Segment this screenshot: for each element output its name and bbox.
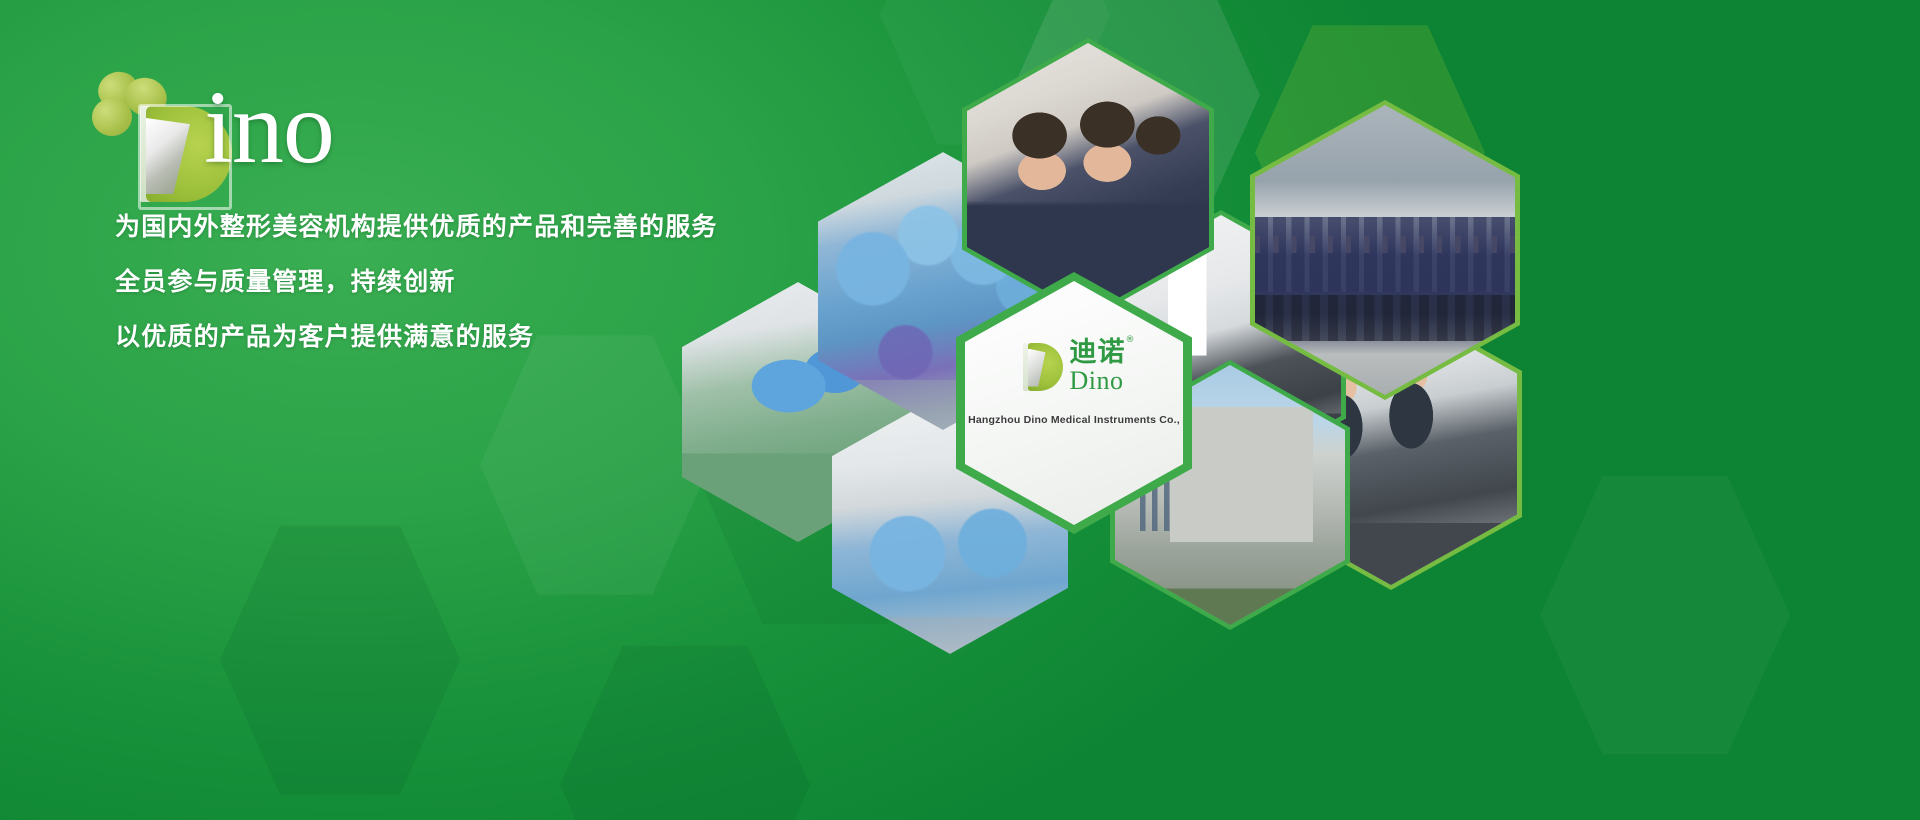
brand-wordmark: ino — [204, 76, 334, 180]
slogan-line-3: 以优质的产品为客户提供满意的服务 — [115, 322, 718, 352]
background-hexagon — [560, 640, 810, 820]
photo-hexagon-mosaic: 迪诺 ® Dino Hangzhou Dino Medical Instrume… — [660, 60, 1920, 620]
dino-leaf-mark-icon — [1023, 343, 1063, 391]
brand-name-cn-text: 迪诺 — [1070, 337, 1126, 368]
company-full-name: Hangzhou Dino Medical Instruments Co., — [968, 414, 1180, 426]
slogan-line-2: 全员参与质量管理，持续创新 — [115, 267, 718, 297]
registered-trademark-icon: ® — [1126, 336, 1136, 345]
brand-name-cn: 迪诺 ® — [1070, 339, 1126, 366]
center-logo-lockup: 迪诺 ® Dino — [1023, 339, 1126, 394]
slogan-line-1: 为国内外整形美容机构提供优质的产品和完善的服务 — [115, 212, 718, 242]
background-hexagon — [220, 520, 460, 800]
center-logo-hexagon[interactable]: 迪诺 ® Dino Hangzhou Dino Medical Instrume… — [956, 272, 1192, 534]
dino-logo: ino — [92, 70, 422, 185]
slogan-list: 为国内外整形美容机构提供优质的产品和完善的服务 全员参与质量管理，持续创新 以优… — [115, 212, 718, 377]
brand-name-en: Dino — [1070, 368, 1124, 394]
logo-d-leaf-icon — [116, 88, 208, 184]
hero-banner: ino 为国内外整形美容机构提供优质的产品和完善的服务 全员参与质量管理，持续创… — [0, 0, 1920, 820]
